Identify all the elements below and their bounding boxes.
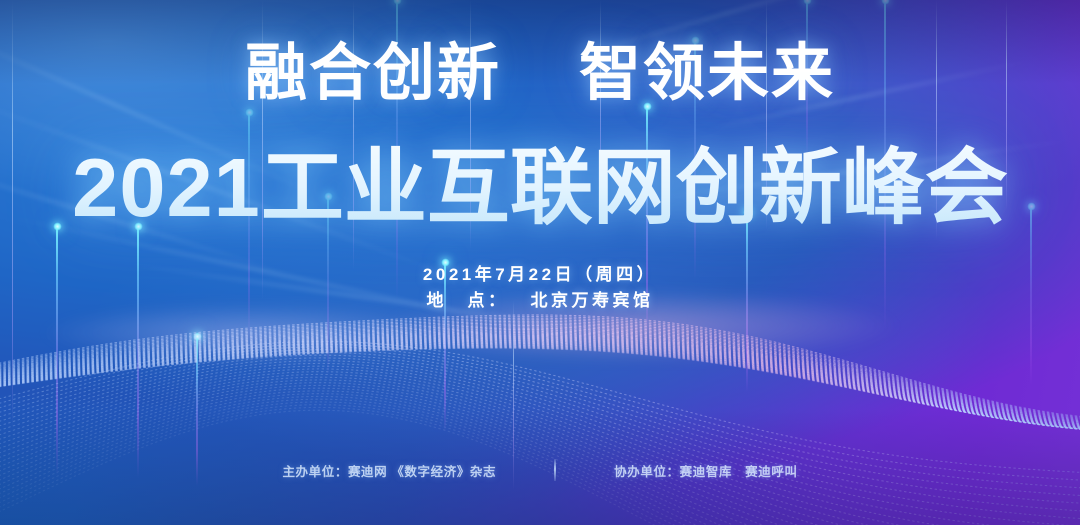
title-year: 2021 bbox=[72, 141, 261, 234]
footer: 主办单位：赛迪网 《数字经济》杂志 协办单位：赛迪智库 赛迪呼叫 bbox=[0, 460, 1080, 480]
footer-co-organizer: 协办单位：赛迪智库 赛迪呼叫 bbox=[614, 461, 797, 480]
venue-name: 北京万寿宾馆 bbox=[531, 291, 654, 310]
tagline-right: 智领未来 bbox=[579, 40, 835, 108]
page-title: 2021工业互联网创新峰会 bbox=[0, 140, 1080, 236]
footer-divider bbox=[554, 459, 556, 481]
event-venue: 地 点：北京万寿宾馆 bbox=[0, 288, 1080, 314]
tagline: 融合创新智领未来 bbox=[0, 34, 1080, 114]
title-text: 工业互联网创新峰会 bbox=[261, 141, 1008, 234]
conference-banner: 融合创新智领未来 2021工业互联网创新峰会 2021年7月22日（周四） 地 … bbox=[0, 0, 1080, 525]
event-date: 2021年7月22日（周四） bbox=[0, 262, 1080, 288]
venue-label: 地 点： bbox=[427, 291, 509, 310]
tagline-left: 融合创新 bbox=[245, 40, 501, 108]
footer-organizer: 主办单位：赛迪网 《数字经济》杂志 bbox=[282, 461, 496, 480]
event-details: 2021年7月22日（周四） 地 点：北京万寿宾馆 bbox=[0, 262, 1080, 314]
